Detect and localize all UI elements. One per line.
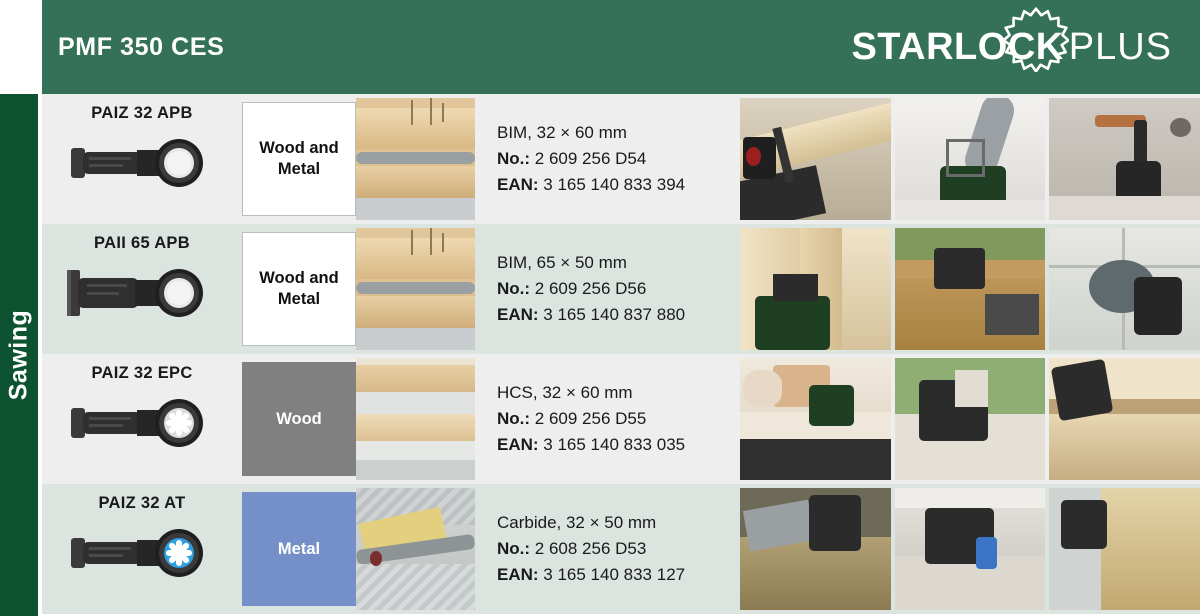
- spec-number-value: 2 609 256 D54: [535, 149, 647, 168]
- table-row[interactable]: PAIZ 32 APB Wood and: [42, 94, 1200, 224]
- material-cell: Metal: [242, 484, 356, 614]
- application-photo: [740, 228, 891, 350]
- product-table: PAIZ 32 APB Wood and: [42, 94, 1200, 616]
- spec-ean-label: EAN:: [497, 565, 539, 584]
- spec-ean-line: EAN: 3 165 140 833 035: [497, 432, 740, 458]
- table-row[interactable]: PAII 65 APB: [42, 224, 1200, 354]
- application-photos: [740, 354, 1200, 484]
- spec-ean-line: EAN: 3 165 140 833 394: [497, 172, 740, 198]
- saw-blade-image: [63, 392, 221, 454]
- material-badge: Wood and Metal: [242, 102, 356, 216]
- spec-ean-value: 3 165 140 833 035: [543, 435, 685, 454]
- spec-type: BIM, 65 × 50 mm: [497, 250, 740, 276]
- material-photo: [356, 358, 475, 480]
- spec-number-label: No.:: [497, 279, 530, 298]
- spec-number-label: No.:: [497, 539, 530, 558]
- material-badge: Wood and Metal: [242, 232, 356, 346]
- application-photos: [740, 94, 1200, 224]
- application-photo: [895, 358, 1046, 480]
- spec-ean-value: 3 165 140 837 880: [543, 305, 685, 324]
- spec-type: BIM, 32 × 60 mm: [497, 120, 740, 146]
- application-photo: [1049, 488, 1200, 610]
- starlock-plus-logo: STARLOCK PLUS: [851, 26, 1172, 69]
- material-photo-cell: [356, 224, 475, 354]
- spec-number-line: No.: 2 608 256 D53: [497, 536, 740, 562]
- page-header: PMF 350 CES STARLOCK PLUS: [42, 0, 1200, 94]
- spec-number-line: No.: 2 609 256 D56: [497, 276, 740, 302]
- saw-blade-image: [63, 132, 221, 194]
- material-cell: Wood and Metal: [242, 224, 356, 354]
- product-name: PAIZ 32 APB: [91, 104, 192, 123]
- material-photo-cell: [356, 354, 475, 484]
- spec-number-value: 2 608 256 D53: [535, 539, 647, 558]
- product-name: PAIZ 32 AT: [98, 494, 185, 513]
- spec-cell: BIM, 65 × 50 mm No.: 2 609 256 D56 EAN: …: [475, 224, 740, 354]
- logo-main-text: STARLOCK: [851, 26, 1063, 69]
- application-photo: [895, 488, 1046, 610]
- logo-sub-text: PLUS: [1069, 26, 1172, 69]
- material-badge: Metal: [242, 492, 356, 606]
- product-name: PAII 65 APB: [94, 234, 190, 253]
- material-cell: Wood and Metal: [242, 94, 356, 224]
- material-cell: Wood: [242, 354, 356, 484]
- material-photo: [356, 98, 475, 220]
- spec-ean-line: EAN: 3 165 140 837 880: [497, 302, 740, 328]
- product-name-cell: PAII 65 APB: [42, 224, 242, 354]
- application-photo: [895, 228, 1046, 350]
- spec-ean-value: 3 165 140 833 127: [543, 565, 685, 584]
- material-badge: Wood: [242, 362, 356, 476]
- application-photo: [1049, 358, 1200, 480]
- application-photo: [1049, 98, 1200, 220]
- material-photo-cell: [356, 484, 475, 614]
- spec-number-line: No.: 2 609 256 D54: [497, 146, 740, 172]
- application-photo: [1049, 228, 1200, 350]
- category-sidebar: Sawing: [0, 94, 38, 616]
- application-photo: [740, 358, 891, 480]
- material-photo-cell: [356, 94, 475, 224]
- spec-cell: HCS, 32 × 60 mm No.: 2 609 256 D55 EAN: …: [475, 354, 740, 484]
- spec-type: HCS, 32 × 60 mm: [497, 380, 740, 406]
- product-table-page: PMF 350 CES STARLOCK PLUS Sawing PAIZ 32…: [0, 0, 1200, 616]
- spec-number-label: No.:: [497, 149, 530, 168]
- product-name-cell: PAIZ 32 AT: [42, 484, 242, 614]
- product-name-cell: PAIZ 32 APB: [42, 94, 242, 224]
- spec-ean-line: EAN: 3 165 140 833 127: [497, 562, 740, 588]
- table-row[interactable]: PAIZ 32 AT: [42, 484, 1200, 614]
- spec-cell: BIM, 32 × 60 mm No.: 2 609 256 D54 EAN: …: [475, 94, 740, 224]
- spec-cell: Carbide, 32 × 50 mm No.: 2 608 256 D53 E…: [475, 484, 740, 614]
- product-name: PAIZ 32 EPC: [91, 364, 192, 383]
- application-photo: [740, 488, 891, 610]
- page-title: PMF 350 CES: [58, 33, 224, 62]
- application-photo: [895, 98, 1046, 220]
- material-photo: [356, 228, 475, 350]
- product-name-cell: PAIZ 32 EPC: [42, 354, 242, 484]
- spec-number-value: 2 609 256 D55: [535, 409, 647, 428]
- spec-ean-label: EAN:: [497, 305, 539, 324]
- spec-number-label: No.:: [497, 409, 530, 428]
- saw-blade-image: [63, 522, 221, 584]
- spec-ean-label: EAN:: [497, 175, 539, 194]
- spec-number-value: 2 609 256 D56: [535, 279, 647, 298]
- application-photos: [740, 224, 1200, 354]
- spec-type: Carbide, 32 × 50 mm: [497, 510, 740, 536]
- saw-blade-image: [63, 262, 221, 324]
- spec-number-line: No.: 2 609 256 D55: [497, 406, 740, 432]
- application-photo: [740, 98, 891, 220]
- material-photo: [356, 488, 475, 610]
- spec-ean-label: EAN:: [497, 435, 539, 454]
- category-label: Sawing: [5, 310, 34, 401]
- table-row[interactable]: PAIZ 32 EPC: [42, 354, 1200, 484]
- application-photos: [740, 484, 1200, 614]
- spec-ean-value: 3 165 140 833 394: [543, 175, 685, 194]
